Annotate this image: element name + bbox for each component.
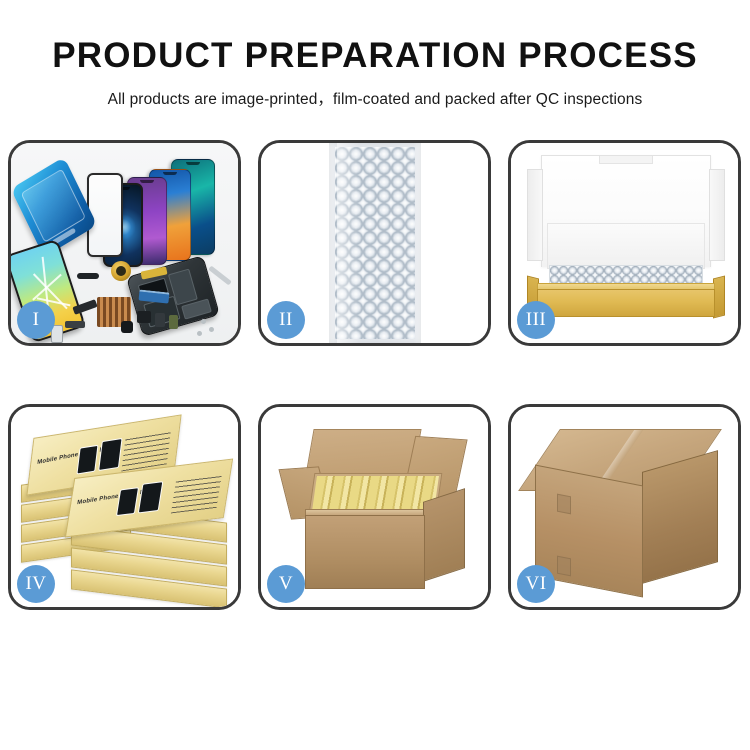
- part-screw: [201, 319, 206, 324]
- step-badge-4: IV: [17, 565, 55, 603]
- process-steps-grid: I II III: [8, 140, 742, 680]
- carton-right-panel: [642, 450, 718, 584]
- part-module-square: [137, 311, 151, 323]
- open-mailer-box: [527, 155, 725, 333]
- bubble-wrap-strip: [329, 143, 421, 343]
- notch-icon: [186, 162, 200, 165]
- carton-side-panel: [423, 488, 465, 582]
- page-title: PRODUCT PREPARATION PROCESS: [0, 0, 750, 76]
- notch-icon: [163, 172, 177, 175]
- step-badge-5: V: [267, 565, 305, 603]
- bubble-pattern: [335, 147, 415, 339]
- step-panel-1: I: [8, 140, 241, 346]
- page-header: PRODUCT PREPARATION PROCESS All products…: [0, 0, 750, 109]
- step-panel-2: II: [258, 140, 491, 346]
- part-small-battery: [169, 315, 178, 329]
- open-shipping-carton: [283, 423, 469, 599]
- part-screw: [197, 331, 202, 336]
- box-label-screen-image: [98, 438, 122, 471]
- step-panel-6: VI: [508, 404, 741, 610]
- part-bar: [77, 273, 99, 279]
- step-badge-1: I: [17, 301, 55, 339]
- step-badge-3: III: [517, 301, 555, 339]
- sealed-shipping-carton: [529, 429, 725, 595]
- mailer-base-front: [537, 289, 715, 317]
- step-panel-5: V: [258, 404, 491, 610]
- mailer-lid-flap-left: [527, 169, 543, 261]
- part-module-rect: [155, 313, 165, 327]
- part-flex-cable-gray: [65, 321, 85, 328]
- foam-insert: [547, 223, 705, 269]
- page-subtitle: All products are image-printed，film-coat…: [0, 76, 750, 109]
- step-badge-2: II: [267, 301, 305, 339]
- box-label-spec-lines: [171, 473, 222, 514]
- carton-front-panel: [305, 515, 425, 589]
- carton-tape-patch: [557, 494, 571, 515]
- part-camera-module: [121, 321, 133, 333]
- mailer-lid-flap-right: [709, 169, 725, 261]
- box-label-spec-lines: [121, 429, 171, 471]
- box-label-screen-image: [138, 481, 164, 513]
- box-label-screen-image: [76, 445, 98, 475]
- notch-icon: [140, 180, 154, 183]
- box-label-screen-image: [116, 487, 139, 516]
- part-speaker-coil: [111, 261, 131, 281]
- step-panel-4: Mobile Phone Spare Parts Mobile Phone Sp…: [8, 404, 241, 610]
- carton-tape-patch: [557, 556, 571, 577]
- step-badge-6: VI: [517, 565, 555, 603]
- part-screw: [209, 327, 214, 332]
- step-panel-3: III: [508, 140, 741, 346]
